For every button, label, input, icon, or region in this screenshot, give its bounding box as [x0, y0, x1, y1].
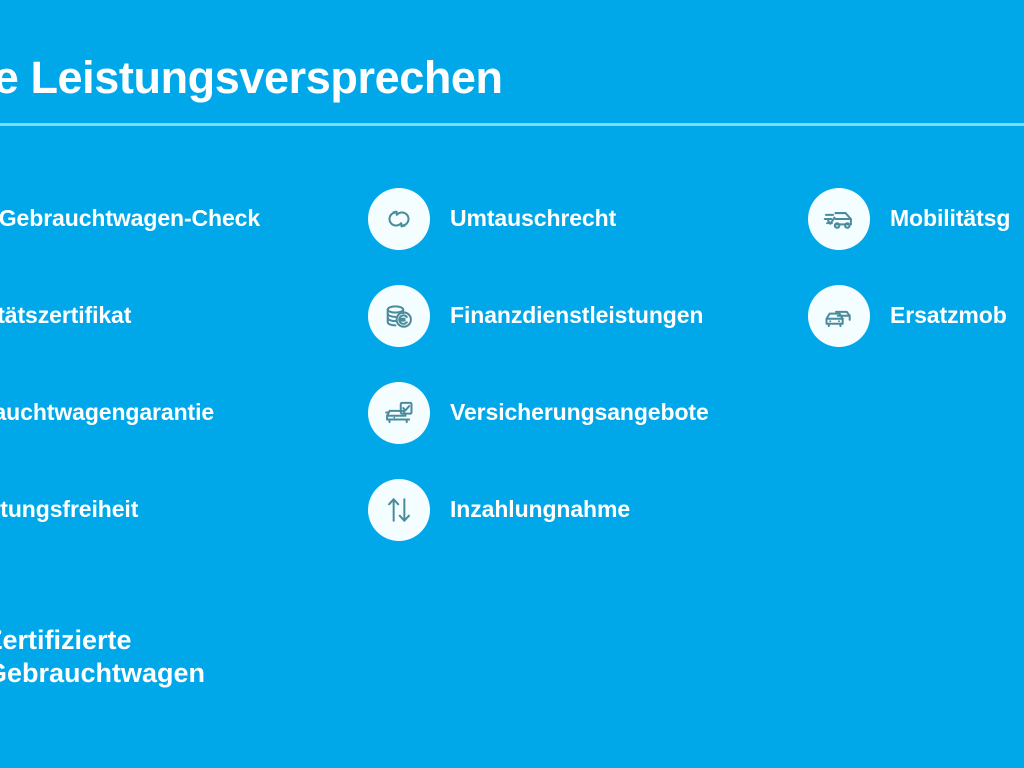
list-item[interactable]: Ersatzmob — [808, 267, 1024, 364]
car-checkbox-icon — [368, 382, 430, 444]
benefit-label-inzahlungnahme: Inzahlungnahme — [450, 496, 630, 523]
benefit-label-umtauschrecht: Umtauschrecht — [450, 205, 616, 232]
up-down-arrows-icon — [368, 479, 430, 541]
badge-line-2: Gebrauchtwagen — [0, 657, 205, 690]
slide-root: ere Leistungsversprechen 60° Gebrauchtwa… — [0, 0, 1024, 768]
benefit-label-mobilitaetsgarantie: Mobilitätsg — [890, 205, 1010, 232]
list-item[interactable]: 60° Gebrauchtwagen-Check — [0, 170, 358, 267]
benefit-label-finanzdienstleistungen: Finanzdienstleistungen — [450, 302, 703, 329]
certified-used-cars-badge: Zertifizierte Gebrauchtwagen — [0, 624, 205, 690]
benefit-label-360-check: 60° Gebrauchtwagen-Check — [0, 205, 260, 232]
moving-car-check-icon — [808, 188, 870, 250]
list-item[interactable]: Inzahlungnahme — [368, 461, 788, 558]
benefit-label-gebrauchtwagengarantie: ebrauchtwagengarantie — [0, 399, 214, 426]
list-item[interactable]: Umtauschrecht — [368, 170, 788, 267]
benefit-label-ersatzmobilitaet: Ersatzmob — [890, 302, 1007, 329]
benefit-label-versicherungsangebote: Versicherungsangebote — [450, 399, 709, 426]
header-divider — [0, 123, 1024, 126]
exchange-arrows-icon — [368, 188, 430, 250]
list-item[interactable]: ebrauchtwagengarantie — [0, 364, 358, 461]
badge-line-1: Zertifizierte — [0, 624, 205, 657]
list-item[interactable]: Wartungsfreiheit — [0, 461, 358, 558]
page-title: ere Leistungsversprechen — [0, 54, 503, 101]
list-item[interactable]: ualitätszertifikat — [0, 267, 358, 364]
benefits-columns: 60° Gebrauchtwagen-Check ualitätszertifi… — [0, 170, 1024, 600]
coins-euro-icon — [368, 285, 430, 347]
list-item[interactable]: Versicherungsangebote — [368, 364, 788, 461]
benefit-label-qualitaetszertifikat: ualitätszertifikat — [0, 302, 131, 329]
two-cars-icon — [808, 285, 870, 347]
benefit-label-wartungsfreiheit: Wartungsfreiheit — [0, 496, 138, 523]
column-left: 60° Gebrauchtwagen-Check ualitätszertifi… — [0, 170, 358, 558]
list-item[interactable]: Finanzdienstleistungen — [368, 267, 788, 364]
column-right: Mobilitätsg Ersatzmob — [808, 170, 1024, 364]
list-item[interactable]: Mobilitätsg — [808, 170, 1024, 267]
column-middle: Umtauschrecht Finanzdienstleistun — [368, 170, 788, 558]
